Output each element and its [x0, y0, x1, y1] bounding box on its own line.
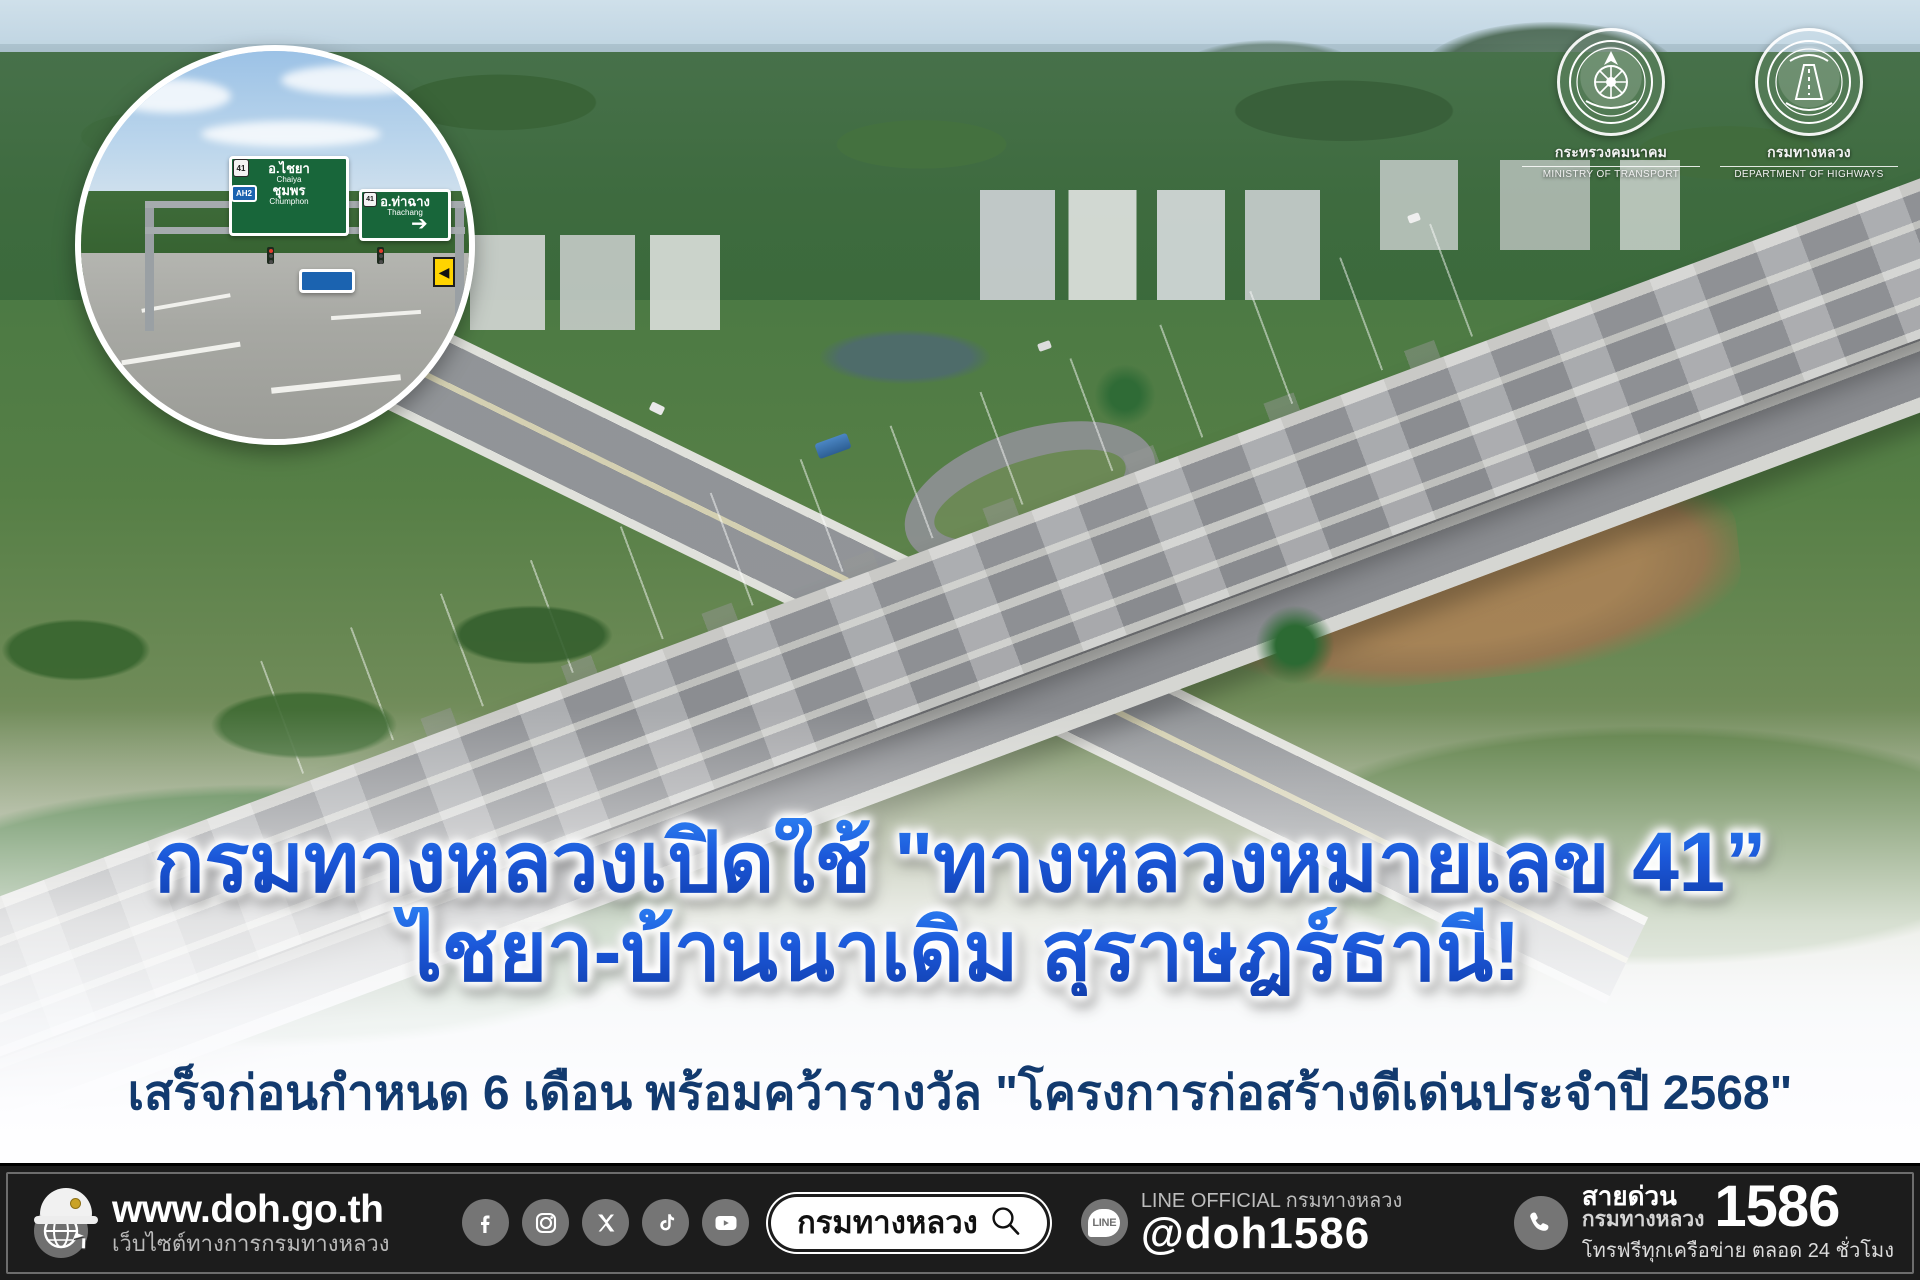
route-shield-secondary: 41: [363, 192, 377, 207]
line-badge-label: LINE: [1092, 1217, 1116, 1229]
headline-subtitle: เสร็จก่อนกำหนด 6 เดือน พร้อมคว้ารางวัล "…: [0, 1055, 1920, 1131]
asian-highway-ah2-badge: AH2: [231, 185, 257, 202]
hotline-number[interactable]: 1586: [1714, 1180, 1839, 1233]
line-bubble: LINE: [1088, 1209, 1120, 1237]
ministry-emblem-icon: [1557, 28, 1665, 136]
inset-photo-road-signs: อ.ไชยา Chaiya ชุมพร Chumphon 41 AH2 อ.ท่…: [75, 45, 475, 445]
search-text: กรมทางหลวง: [797, 1207, 978, 1238]
palm-tree: [1250, 600, 1340, 690]
chevron-warning-sign: ◀: [433, 257, 455, 287]
ministry-name-en: MINISTRY OF TRANSPORT: [1522, 166, 1700, 180]
cloud: [111, 79, 231, 113]
buildings-left: [470, 235, 720, 330]
social-icons: [462, 1199, 749, 1246]
highways-emblem-icon: [1755, 28, 1863, 136]
department-of-highways-seal: กรมทางหลวง DEPARTMENT OF HIGHWAYS: [1720, 28, 1898, 180]
phone-icon: [1514, 1196, 1568, 1250]
sign-chaiya-th: อ.ไชยา: [236, 162, 342, 176]
hotline-block[interactable]: สายด่วน กรมทางหลวง 1586 โทรฟรีทุกเครือข่…: [1514, 1180, 1894, 1266]
gantry-post-right: [455, 201, 464, 321]
cloud: [281, 65, 431, 95]
tiktok-icon[interactable]: [642, 1199, 689, 1246]
website-block[interactable]: www.doh.go.th เว็บไซต์ทางการกรมทางหลวง: [26, 1188, 456, 1258]
hotline-label-1: สายด่วน: [1582, 1183, 1704, 1210]
palm-tree: [1090, 360, 1160, 430]
x-twitter-icon[interactable]: [582, 1199, 629, 1246]
safety-helmet-icon: [40, 1188, 92, 1222]
youtube-icon[interactable]: [702, 1199, 749, 1246]
search-input[interactable]: กรมทางหลวง: [771, 1197, 1047, 1249]
headline-line-2: ไชยา-บ้านนาเดิม สุราษฎร์ธานี!: [0, 907, 1920, 996]
poster-root: อ.ไชยา Chaiya ชุมพร Chumphon 41 AH2 อ.ท่…: [0, 0, 1920, 1280]
globe-helmet-icon: [26, 1188, 102, 1258]
hotline-label-2: กรมทางหลวง: [1582, 1209, 1704, 1230]
pond: [820, 330, 990, 384]
headline-block: กรมทางหลวงเปิดใช้ "ทางหลวงหมายเลข 41” ไช…: [0, 818, 1920, 996]
blue-info-sign: [299, 269, 355, 293]
hotline-note: โทรฟรีทุกเครือข่าย ตลอด 24 ชั่วโมง: [1582, 1234, 1894, 1266]
website-url[interactable]: www.doh.go.th: [112, 1190, 390, 1229]
instagram-icon[interactable]: [522, 1199, 569, 1246]
traffic-light: [267, 247, 274, 264]
department-name-en: DEPARTMENT OF HIGHWAYS: [1720, 166, 1898, 180]
inset-roadway: [81, 253, 469, 439]
cloud: [201, 121, 381, 147]
headline-line-1: กรมทางหลวงเปิดใช้ "ทางหลวงหมายเลข 41”: [0, 818, 1920, 907]
search-icon[interactable]: [990, 1205, 1021, 1241]
sign-thachang-th: อ.ท่าฉาง: [366, 195, 444, 209]
sign-thachang-en: Thachang: [366, 209, 444, 217]
route-shield-41: 41: [233, 159, 249, 177]
line-official-id[interactable]: @doh1586: [1141, 1212, 1403, 1256]
website-subtitle: เว็บไซต์ทางการกรมทางหลวง: [112, 1231, 390, 1256]
line-official-block[interactable]: LINE LINE OFFICIAL กรมทางหลวง @doh1586: [1081, 1190, 1403, 1256]
right-turn-arrow-icon: ➔: [411, 211, 428, 236]
official-seals: กระทรวงคมนาคม MINISTRY OF TRANSPORT กรมท…: [1522, 28, 1898, 180]
line-icon: LINE: [1081, 1199, 1128, 1246]
facebook-icon[interactable]: [462, 1199, 509, 1246]
gantry-post-left: [145, 201, 154, 331]
ministry-of-transport-seal: กระทรวงคมนาคม MINISTRY OF TRANSPORT: [1522, 28, 1700, 180]
traffic-light: [377, 247, 384, 264]
footer-bar: www.doh.go.th เว็บไซต์ทางการกรมทางหลวง: [0, 1163, 1920, 1280]
ministry-name-th: กระทรวงคมนาคม: [1522, 142, 1700, 164]
department-name-th: กรมทางหลวง: [1720, 142, 1898, 164]
